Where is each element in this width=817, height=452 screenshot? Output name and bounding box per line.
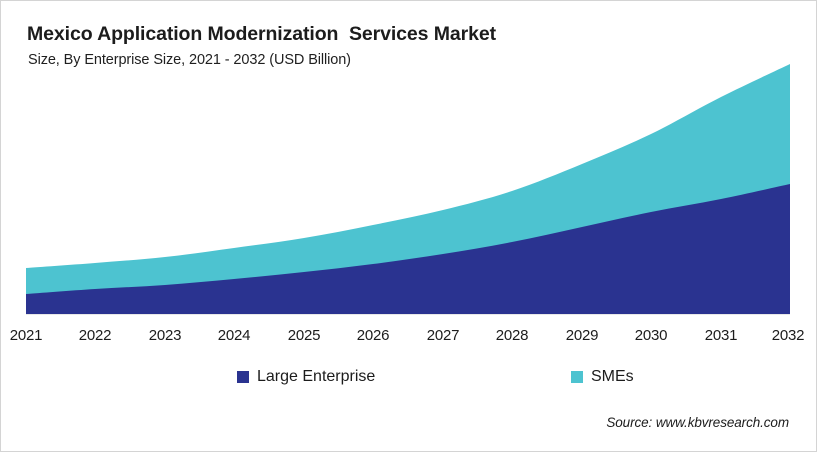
x-tick-2021: 2021 (0, 327, 61, 344)
chart-figure: Mexico Application Modernization Service… (0, 0, 817, 452)
legend-swatch-smes (571, 371, 583, 383)
legend-label-large-enterprise: Large Enterprise (257, 369, 375, 385)
x-tick-2027: 2027 (408, 327, 478, 344)
x-tick-2028: 2028 (477, 327, 547, 344)
x-tick-2031: 2031 (686, 327, 756, 344)
x-tick-2029: 2029 (547, 327, 617, 344)
x-tick-2025: 2025 (269, 327, 339, 344)
source-note: Source: www.kbvresearch.com (606, 415, 789, 430)
x-tick-2023: 2023 (130, 327, 200, 344)
legend-swatch-large-enterprise (237, 371, 249, 383)
x-tick-2024: 2024 (199, 327, 269, 344)
x-tick-2030: 2030 (616, 327, 686, 344)
x-tick-2032: 2032 (753, 327, 817, 344)
x-axis-labels: 2021 2022 2023 2024 2025 2026 2027 2028 … (1, 327, 817, 351)
x-tick-2022: 2022 (60, 327, 130, 344)
legend-item-large-enterprise[interactable]: Large Enterprise (237, 369, 375, 385)
x-tick-2026: 2026 (338, 327, 408, 344)
legend-item-smes[interactable]: SMEs (571, 369, 634, 385)
chart-legend: Large Enterprise SMEs (1, 369, 817, 393)
legend-label-smes: SMEs (591, 369, 634, 385)
